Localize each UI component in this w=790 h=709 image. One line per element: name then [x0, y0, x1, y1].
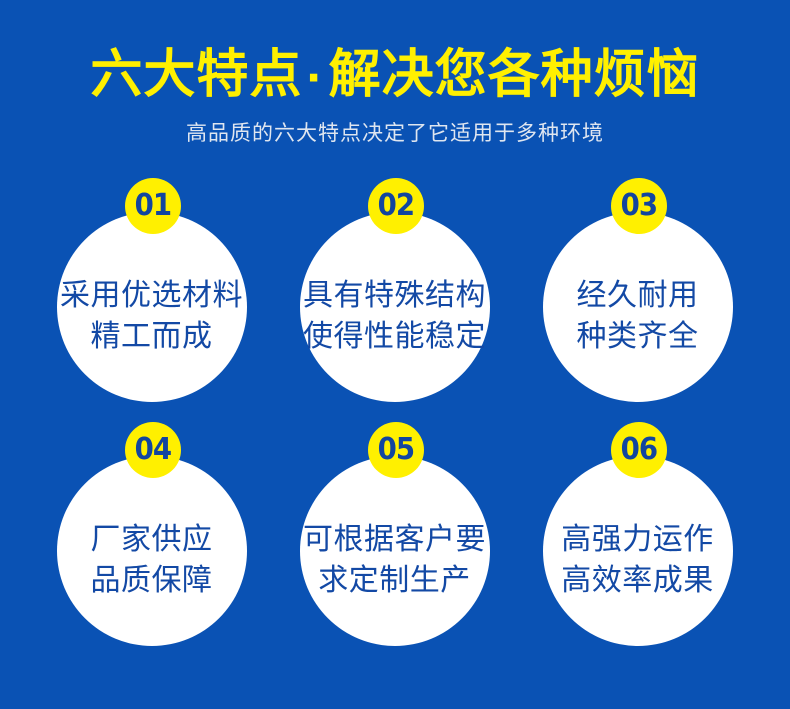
page-title: 六大特点·解决您各种烦恼: [0, 0, 790, 108]
feature-card-05-number: 05: [377, 435, 414, 465]
feature-card-04-line1: 厂家供应: [91, 519, 213, 560]
feature-card-01-line1: 采用优选材料: [60, 275, 243, 316]
feature-card-03-circle: 经久耐用 种类齐全: [543, 212, 733, 402]
feature-card-03-line1: 经久耐用: [577, 275, 699, 316]
feature-card-05[interactable]: 可根据客户要 求定制生产 05: [274, 422, 517, 662]
feature-card-01-badge: 01: [125, 178, 181, 234]
feature-card-02-line2: 使得性能稳定: [303, 316, 486, 357]
feature-card-06-line1: 高强力运作: [561, 519, 714, 560]
feature-card-02-line1: 具有特殊结构: [303, 275, 486, 316]
feature-row-2: 厂家供应 品质保障 04 可根据客户要 求定制生产 05: [0, 422, 790, 662]
feature-card-05-line2: 求定制生产: [303, 560, 486, 601]
feature-card-05-badge: 05: [368, 422, 424, 478]
feature-card-03[interactable]: 经久耐用 种类齐全 03: [517, 178, 760, 418]
feature-card-02[interactable]: 具有特殊结构 使得性能稳定 02: [274, 178, 517, 418]
feature-card-06-badge: 06: [611, 422, 667, 478]
feature-card-05-circle: 可根据客户要 求定制生产: [300, 456, 490, 646]
feature-card-06-line2: 高效率成果: [561, 560, 714, 601]
feature-card-01-circle: 采用优选材料 精工而成: [57, 212, 247, 402]
feature-card-06[interactable]: 高强力运作 高效率成果 06: [517, 422, 760, 662]
feature-card-06-circle: 高强力运作 高效率成果: [543, 456, 733, 646]
feature-card-05-text: 可根据客户要 求定制生产: [303, 501, 486, 601]
feature-card-03-line2: 种类齐全: [577, 316, 699, 357]
title-separator-dot: ·: [302, 48, 328, 108]
title-right-text: 解决您各种烦恼: [329, 46, 700, 104]
feature-card-04-circle: 厂家供应 品质保障: [57, 456, 247, 646]
feature-row-1: 采用优选材料 精工而成 01 具有特殊结构 使得性能稳定 02: [0, 178, 790, 418]
feature-card-03-number: 03: [620, 191, 657, 221]
feature-card-03-text: 经久耐用 种类齐全: [577, 257, 699, 357]
feature-card-04-badge: 04: [125, 422, 181, 478]
feature-card-05-line1: 可根据客户要: [303, 519, 486, 560]
feature-card-03-badge: 03: [611, 178, 667, 234]
feature-card-06-text: 高强力运作 高效率成果: [561, 501, 714, 601]
feature-card-grid: 采用优选材料 精工而成 01 具有特殊结构 使得性能稳定 02: [0, 178, 790, 698]
feature-card-04[interactable]: 厂家供应 品质保障 04: [31, 422, 274, 662]
page-subtitle: 高品质的六大特点决定了它适用于多种环境: [0, 108, 790, 148]
feature-card-01-text: 采用优选材料 精工而成: [60, 257, 243, 357]
poster-header: 六大特点·解决您各种烦恼 高品质的六大特点决定了它适用于多种环境: [0, 0, 790, 148]
feature-card-06-number: 06: [620, 435, 657, 465]
feature-card-02-number: 02: [377, 191, 414, 221]
feature-card-01[interactable]: 采用优选材料 精工而成 01: [31, 178, 274, 418]
feature-card-04-number: 04: [134, 435, 171, 465]
title-left-text: 六大特点: [90, 46, 302, 104]
feature-card-02-circle: 具有特殊结构 使得性能稳定: [300, 212, 490, 402]
feature-poster: 六大特点·解决您各种烦恼 高品质的六大特点决定了它适用于多种环境 采用优选材料 …: [0, 0, 790, 709]
feature-card-01-number: 01: [134, 191, 171, 221]
feature-card-04-text: 厂家供应 品质保障: [91, 501, 213, 601]
feature-card-04-line2: 品质保障: [91, 560, 213, 601]
feature-card-02-badge: 02: [368, 178, 424, 234]
feature-card-01-line2: 精工而成: [60, 316, 243, 357]
feature-card-02-text: 具有特殊结构 使得性能稳定: [303, 257, 486, 357]
